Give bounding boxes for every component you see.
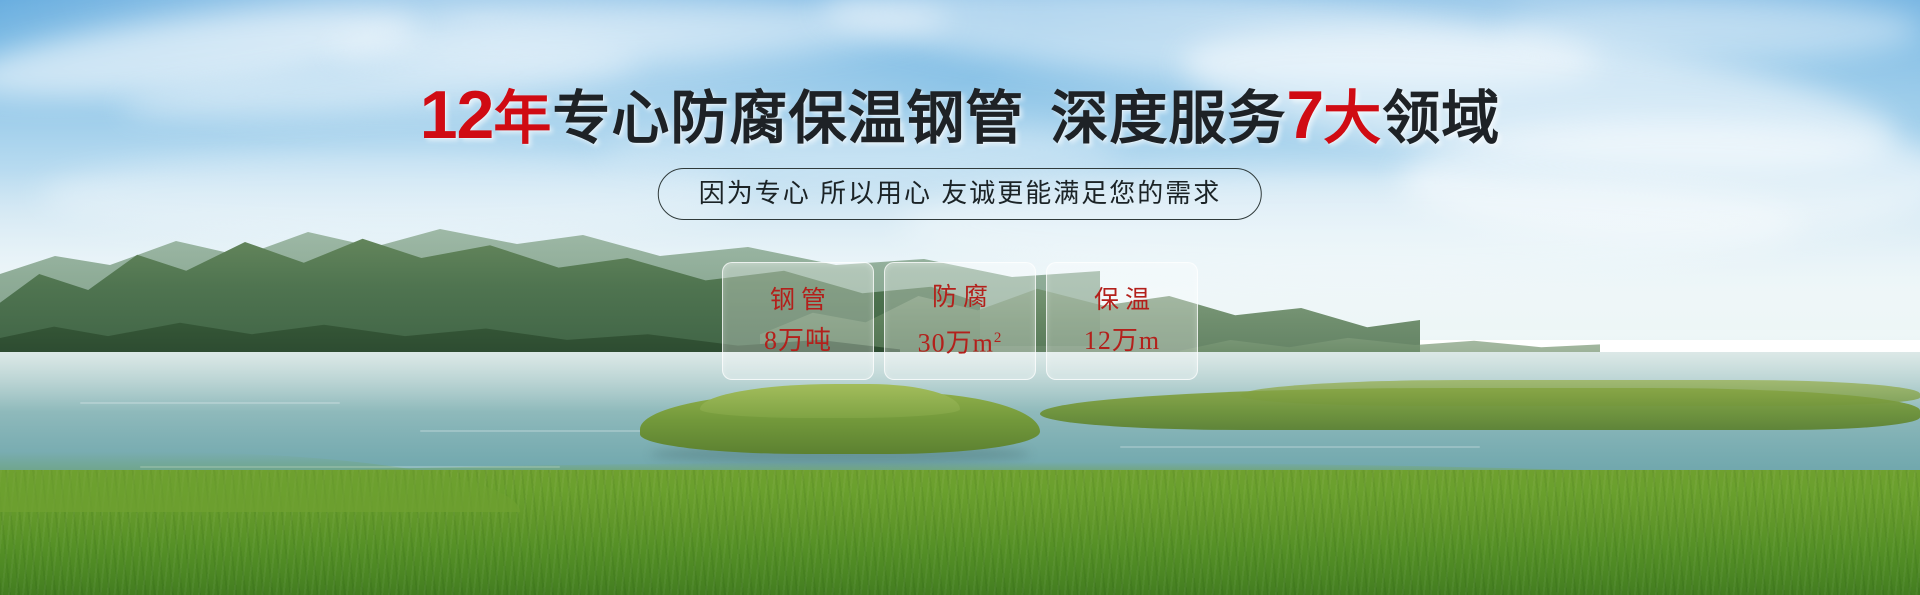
headline-fields-number: 7 [1286, 77, 1323, 153]
stat-card-label: 保温 [1088, 287, 1156, 313]
stat-card-label: 防腐 [926, 284, 994, 310]
headline-fields-text: 领域 [1382, 86, 1500, 151]
stat-card-superscript: 2 [994, 330, 1003, 346]
stat-card-value: 8万吨 [764, 327, 832, 355]
headline-fields-unit: 大 [1323, 86, 1382, 151]
water-ripple [80, 402, 340, 404]
hero-banner: 12年专心防腐保温钢管深度服务7大领域 因为专心 所以用心 友诚更能满足您的需求… [0, 0, 1920, 595]
stat-card-insulation[interactable]: 保温 12万m [1046, 262, 1198, 380]
stat-card-label: 钢管 [764, 287, 832, 313]
stat-card-steel-pipe[interactable]: 钢管 8万吨 [722, 262, 874, 380]
headline-service-text: 深度服务 [1050, 86, 1286, 151]
stat-card-value: 12万m [1084, 327, 1160, 355]
headline-years-number: 12 [420, 77, 494, 153]
water-ripple [1120, 446, 1480, 448]
banner-subtitle-pill: 因为专心 所以用心 友诚更能满足您的需求 [658, 168, 1262, 220]
stat-card-value: 30万m2 [918, 324, 1003, 358]
stat-card-anticorrosion[interactable]: 防腐 30万m2 [884, 262, 1036, 380]
banner-headline: 12年专心防腐保温钢管深度服务7大领域 [0, 84, 1920, 150]
cloud-icon [1500, 0, 1920, 60]
far-shore-grass [1040, 388, 1920, 430]
stat-card-group: 钢管 8万吨 防腐 30万m2 保温 12万m [722, 262, 1198, 380]
headline-years-unit: 年 [493, 86, 552, 151]
headline-main-text: 专心防腐保温钢管 [552, 86, 1024, 151]
